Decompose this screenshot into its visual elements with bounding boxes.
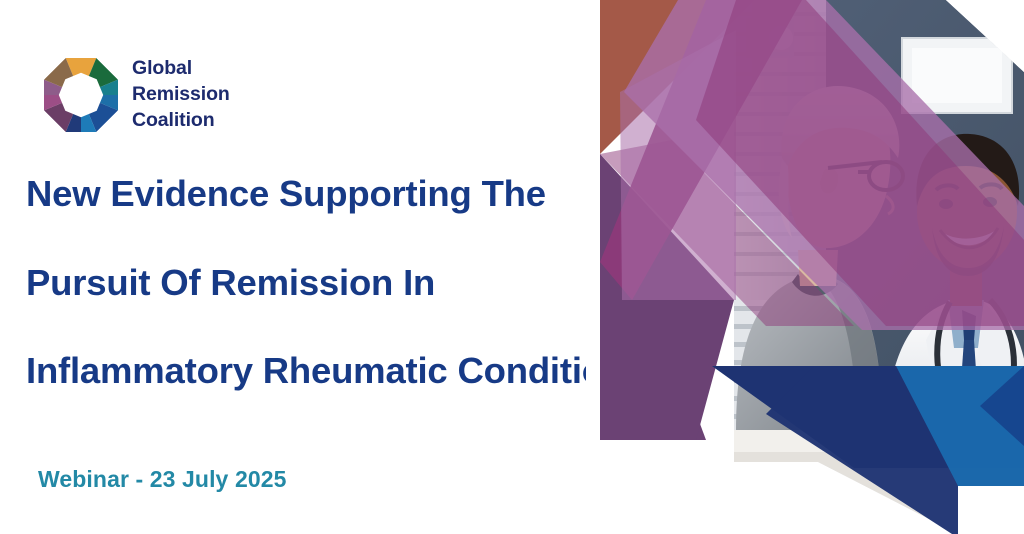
title-line-2: Pursuit Of Remission In (26, 265, 666, 302)
hero-artwork-svg (586, 0, 1024, 534)
octagon-ring-logo-icon (44, 58, 118, 132)
logo-word-line-1: Global (132, 56, 230, 82)
logo-word-line-2: Remission (132, 82, 230, 108)
left-white-margin (586, 0, 600, 534)
octagon-segments (44, 58, 118, 132)
presentation-title-slide: Global Remission Coalition New Evidence … (0, 0, 1024, 534)
title-line-1: New Evidence Supporting The (26, 176, 666, 213)
slide-title: New Evidence Supporting The Pursuit Of R… (26, 176, 666, 390)
title-line-3: Inflammatory Rheumatic Conditions (26, 353, 666, 390)
logo-word-line-3: Coalition (132, 108, 230, 134)
event-subtitle: Webinar - 23 July 2025 (38, 466, 287, 493)
brand-logo: Global Remission Coalition (44, 56, 230, 134)
bottom-right-white-notch-overlay (958, 486, 1024, 534)
logo-wordmark: Global Remission Coalition (132, 56, 230, 134)
hero-artwork-panel (586, 0, 1024, 534)
